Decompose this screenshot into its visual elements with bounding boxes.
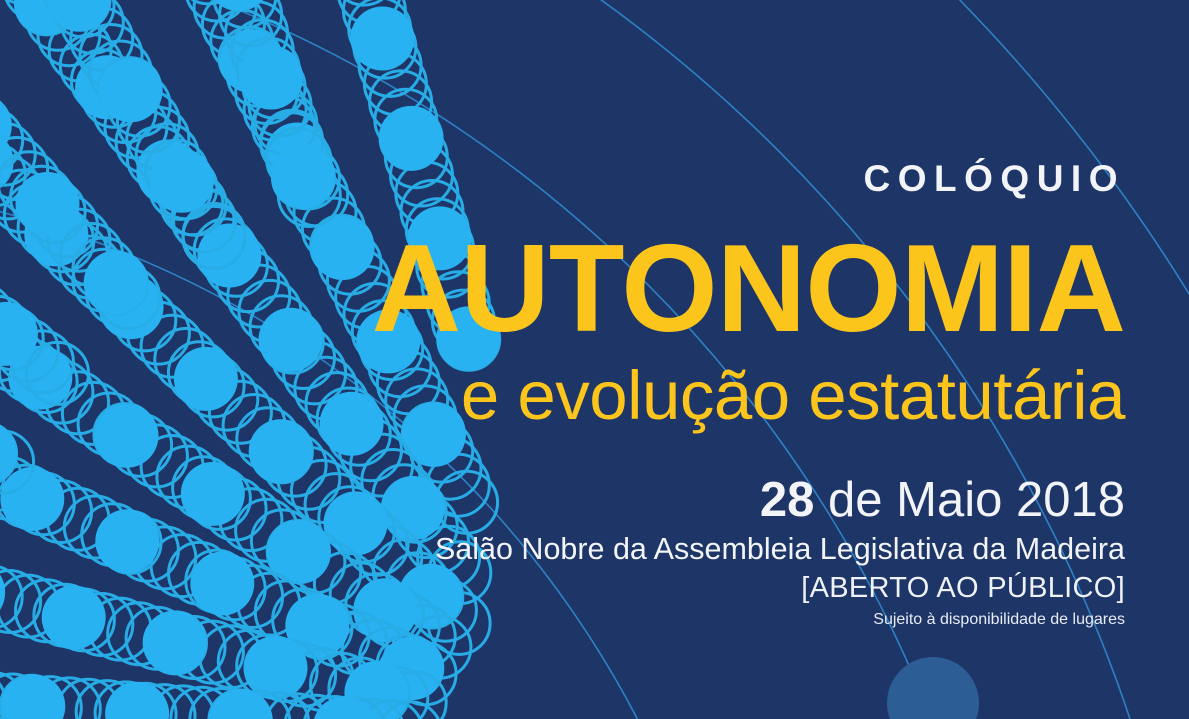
page-subtitle: e evolução estatutária	[265, 352, 1125, 432]
event-date: 28 de Maio 2018	[265, 433, 1125, 526]
page-title: AUTONOMIA	[265, 197, 1125, 352]
event-venue: Salão Nobre da Assembleia Legislativa da…	[265, 526, 1125, 567]
poster-canvas: COLÓQUIO AUTONOMIA e evolução estatutári…	[0, 0, 1189, 719]
poster-text-block: COLÓQUIO AUTONOMIA e evolução estatutári…	[265, 0, 1125, 628]
event-date-month-year: de Maio 2018	[814, 473, 1125, 527]
open-to-public-badge: [ABERTO AO PÚBLICO]	[265, 567, 1125, 605]
ghost-circle	[887, 657, 979, 719]
circle-chain-arm	[15, 0, 245, 268]
circle-chain-arm	[0, 669, 441, 719]
circle-chain-arm	[0, 52, 160, 329]
event-kicker: COLÓQUIO	[265, 0, 1125, 197]
circle-chain-arm	[0, 398, 34, 493]
circle-chain-arm	[0, 250, 89, 405]
seating-note: Sujeito à disponibilidade de lugares	[265, 605, 1125, 629]
event-date-day: 28	[760, 473, 815, 527]
